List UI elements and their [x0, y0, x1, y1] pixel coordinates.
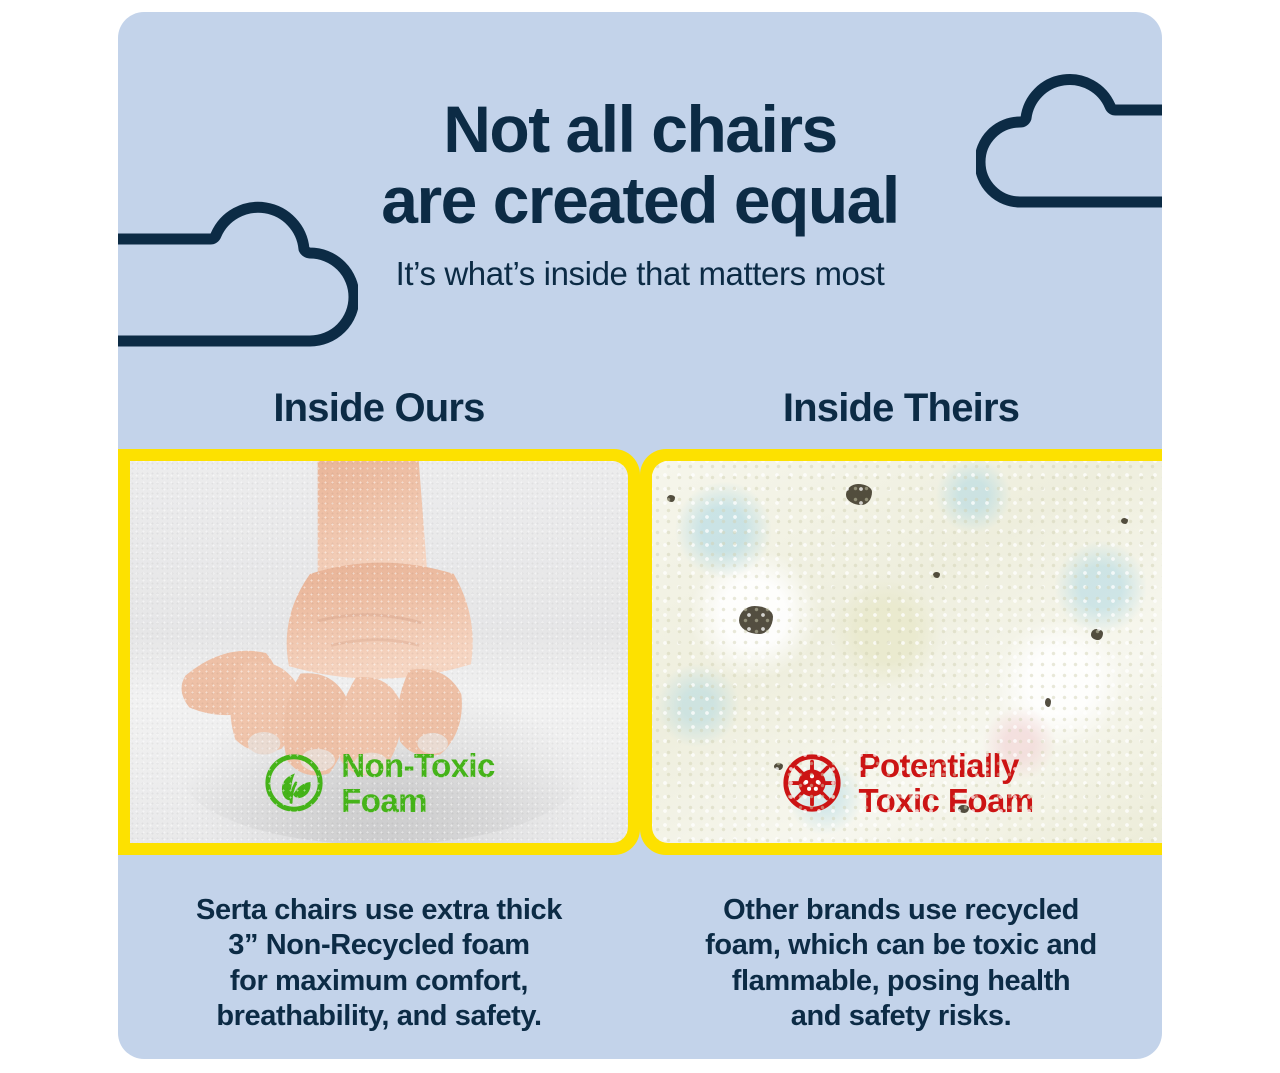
- hand-on-foam-illustration: [130, 461, 628, 843]
- media-card-ours: Non-Toxic Foam: [118, 449, 640, 855]
- foam-debris-speck: [774, 763, 783, 770]
- germ-icon: [781, 752, 843, 814]
- foam-debris-speck: [958, 805, 969, 813]
- foam-debris-speck: [1121, 518, 1128, 524]
- leaf-icon: [263, 752, 325, 814]
- infographic-panel: Not all chairs are created equal It’s wh…: [118, 12, 1162, 1059]
- infographic-stage: Not all chairs are created equal It’s wh…: [0, 0, 1280, 1073]
- media-card-theirs: Potentially Toxic Foam: [640, 449, 1162, 855]
- subheadline: It’s what’s inside that matters most: [118, 255, 1162, 293]
- headline-block: Not all chairs are created equal It’s wh…: [118, 94, 1162, 293]
- badge-non-toxic: Non-Toxic Foam: [130, 748, 628, 819]
- badge-label-non-toxic: Non-Toxic Foam: [341, 748, 494, 819]
- headline-line-2: are created equal: [118, 165, 1162, 236]
- caption-theirs: Other brands use recycled foam, which ca…: [640, 893, 1162, 1035]
- foam-debris-speck: [1045, 698, 1051, 707]
- column-title-theirs: Inside Theirs: [640, 386, 1162, 431]
- foam-debris-speck: [739, 606, 773, 634]
- badge-label-potentially-toxic: Potentially Toxic Foam: [859, 748, 1034, 819]
- column-inside-theirs: Inside Theirs: [640, 386, 1162, 1035]
- column-inside-ours: Inside Ours: [118, 386, 640, 1035]
- caption-ours: Serta chairs use extra thick 3” Non-Recy…: [118, 893, 640, 1035]
- foam-photo-theirs: Potentially Toxic Foam: [652, 461, 1162, 843]
- comparison-columns: Inside Ours: [118, 386, 1162, 1035]
- foam-photo-ours: Non-Toxic Foam: [130, 461, 628, 843]
- column-title-ours: Inside Ours: [118, 386, 640, 431]
- headline-line-1: Not all chairs: [118, 94, 1162, 165]
- foam-debris-speck: [667, 495, 675, 502]
- badge-potentially-toxic: Potentially Toxic Foam: [652, 748, 1162, 819]
- foam-debris-speck: [846, 484, 872, 505]
- foam-debris-speck: [1091, 629, 1103, 640]
- foam-debris-speck: [933, 572, 940, 578]
